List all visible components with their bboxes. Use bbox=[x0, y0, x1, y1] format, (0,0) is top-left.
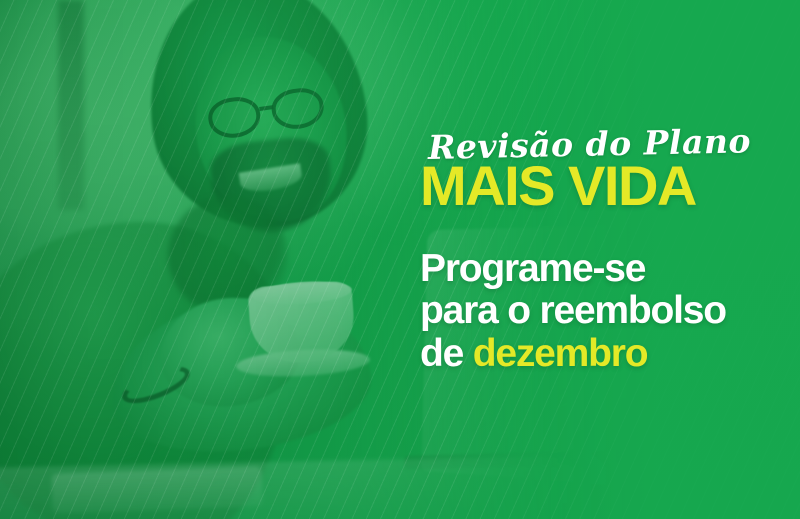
main-headline: MAIS VIDA bbox=[420, 160, 780, 212]
subheadline-line-3: de dezembro bbox=[420, 333, 780, 376]
headline-block: Revisão do Plano MAIS VIDA Programe-se p… bbox=[420, 131, 780, 376]
subheadline: Programe-se para o reembolso de dezembro bbox=[420, 248, 780, 377]
subheadline-line-2: para o reembolso bbox=[420, 290, 780, 333]
subheadline-highlight-month: dezembro bbox=[473, 332, 648, 375]
subheadline-line-1: Programe-se bbox=[420, 248, 780, 291]
subheadline-line-3-text: de bbox=[420, 332, 473, 375]
eyebrow-script-text: Revisão do Plano bbox=[428, 124, 781, 164]
promo-banner: Revisão do Plano MAIS VIDA Programe-se p… bbox=[0, 0, 800, 519]
